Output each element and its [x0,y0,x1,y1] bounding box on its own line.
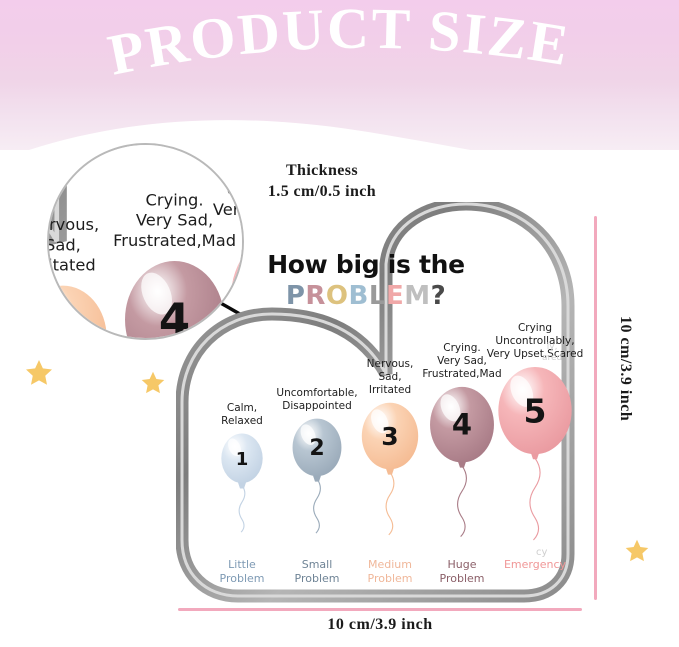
thickness-callout: Thickness 1.5 cm/0.5 inch [232,160,412,202]
width-dimension-label: 10 cm/3.9 inch [178,616,582,634]
width-dimension-rule [178,608,582,611]
banner-wave-divider [0,72,679,150]
heart-acrylic-plaque: How big is the PROBLEM? Calm,Relaxed 1 L… [176,202,596,606]
thickness-value: 1.5 cm/0.5 inch [232,181,412,202]
decorative-star [624,538,650,564]
heart-outline [176,202,596,606]
decorative-star [24,358,54,388]
product-size-infographic: PRODUCT SIZE Thickness 1.5 cm/0.5 inch [0,0,679,647]
decorative-star [140,370,166,396]
thickness-label: Thickness [232,160,412,181]
header-banner: PRODUCT SIZE [0,0,679,150]
height-dimension-label: 10 cm/3.9 inch [616,316,634,456]
